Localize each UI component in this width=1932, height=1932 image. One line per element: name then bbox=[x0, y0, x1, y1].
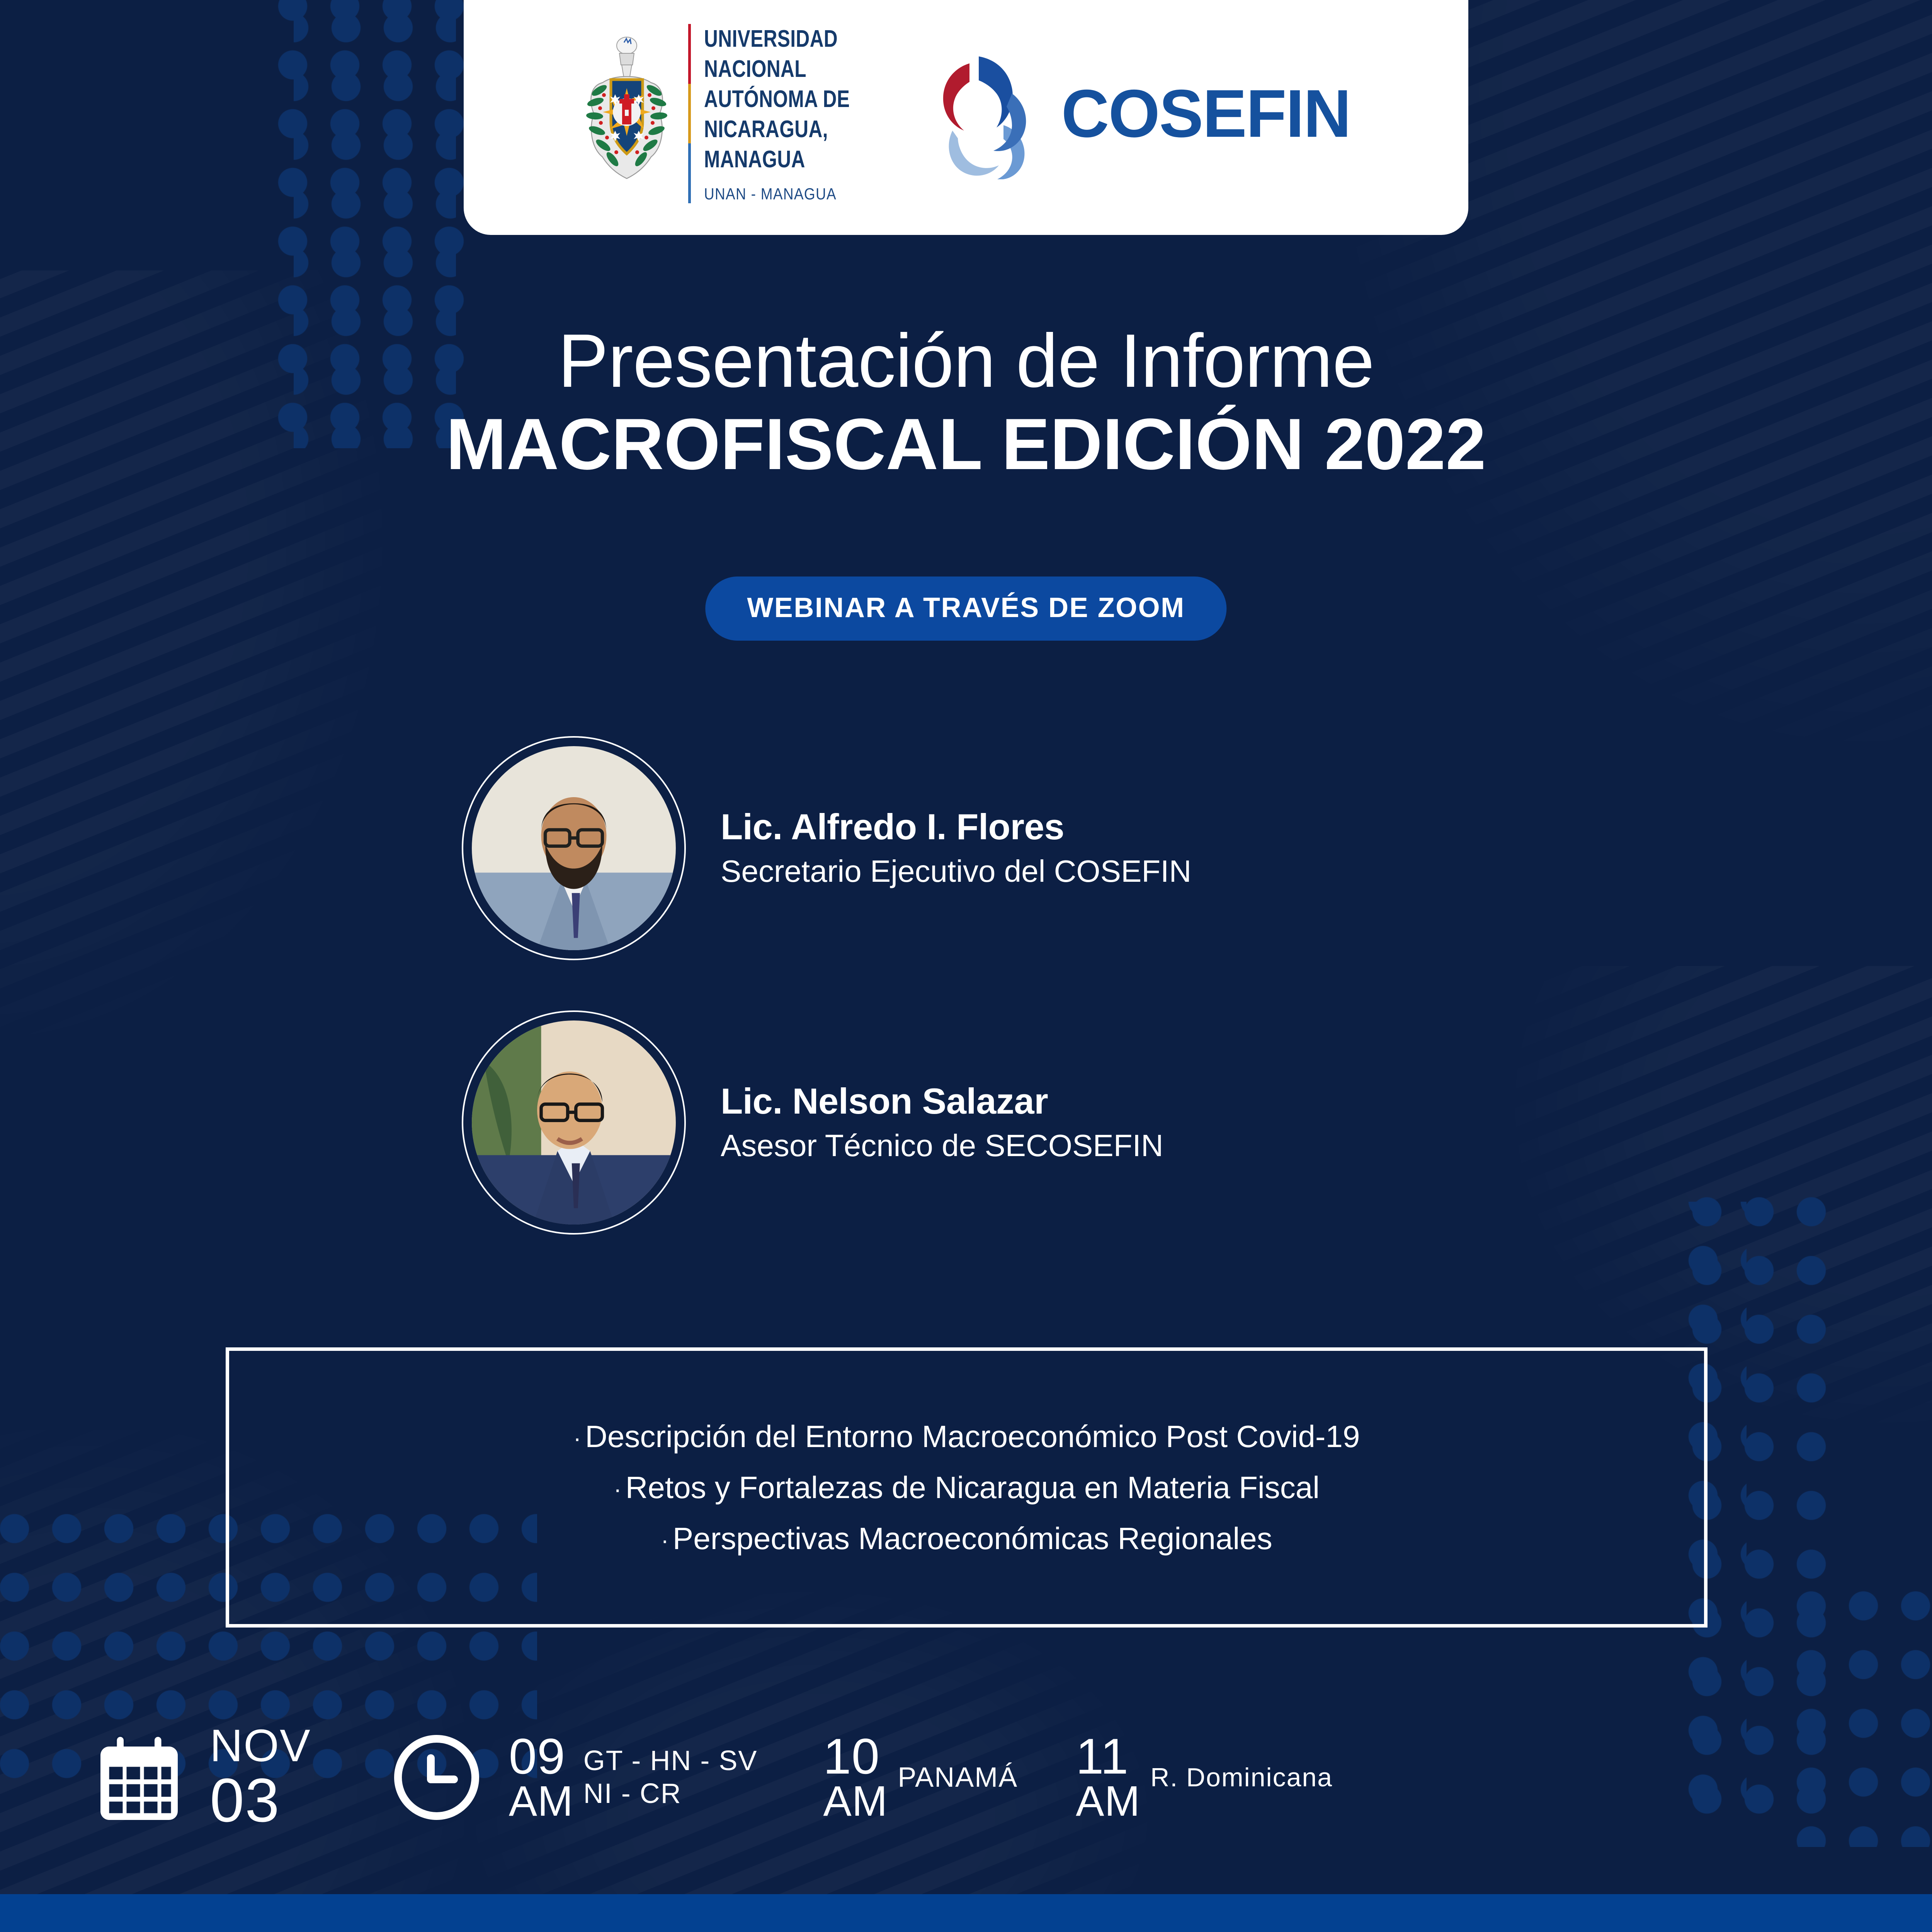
timezone-hour-1: 09 bbox=[509, 1732, 573, 1781]
bullet-icon: · bbox=[573, 1425, 581, 1452]
speaker-role: Asesor Técnico de SECOSEFIN bbox=[721, 1127, 1163, 1164]
bottom-accent-bar bbox=[0, 1894, 1932, 1932]
speaker-info: Lic. Alfredo I. Flores Secretario Ejecut… bbox=[721, 806, 1191, 889]
page-title: Presentación de Informe MACROFISCAL EDIC… bbox=[0, 321, 1932, 485]
bullet-icon: · bbox=[614, 1476, 622, 1503]
clock-icon bbox=[388, 1729, 485, 1826]
speaker-photo-nelson-salazar bbox=[472, 1020, 676, 1225]
speaker-photo-alfredo-flores bbox=[472, 746, 676, 950]
avatar bbox=[462, 736, 686, 960]
timezone-group-1: 09 AM GT - HN - SV NI - CR bbox=[509, 1732, 758, 1823]
list-item: Lic. Nelson Salazar Asesor Técnico de SE… bbox=[0, 1010, 1932, 1235]
event-datetime-bar: NOV 03 09 AM GT - HN - SV NI - CR 10 AM … bbox=[0, 1696, 1932, 1859]
avatar bbox=[462, 1010, 686, 1235]
title-line-2: MACROFISCAL EDICIÓN 2022 bbox=[0, 403, 1932, 485]
topic-text: Retos y Fortalezas de Nicaragua en Mater… bbox=[626, 1470, 1320, 1505]
speaker-name: Lic. Nelson Salazar bbox=[721, 1081, 1163, 1121]
bullet-icon: · bbox=[661, 1527, 669, 1554]
speakers-list: Lic. Alfredo I. Flores Secretario Ejecut… bbox=[0, 736, 1932, 1285]
webinar-badge[interactable]: WEBINAR A TRAVÉS DE ZOOM bbox=[705, 577, 1226, 641]
speaker-info: Lic. Nelson Salazar Asesor Técnico de SE… bbox=[721, 1081, 1163, 1164]
timezone-time-1: 09 AM bbox=[509, 1732, 573, 1823]
timezone-group-3: 11 AM R. Dominicana bbox=[1076, 1732, 1333, 1823]
timezone-hour-2: 10 bbox=[823, 1732, 888, 1781]
timezone-label-3: R. Dominicana bbox=[1150, 1762, 1333, 1793]
timezone-time-3: 11 AM bbox=[1076, 1732, 1140, 1823]
timezone-ampm-2: AM bbox=[823, 1780, 888, 1823]
timezone-label-1: GT - HN - SV NI - CR bbox=[583, 1745, 758, 1810]
speaker-name: Lic. Alfredo I. Flores bbox=[721, 806, 1191, 847]
event-date: NOV 03 bbox=[210, 1723, 311, 1832]
event-month: NOV bbox=[210, 1723, 311, 1769]
timezone-ampm-1: AM bbox=[509, 1780, 573, 1823]
timezone-time-2: 10 AM bbox=[823, 1732, 888, 1823]
title-line-1: Presentación de Informe bbox=[0, 321, 1932, 401]
list-item: Lic. Alfredo I. Flores Secretario Ejecut… bbox=[0, 736, 1932, 960]
timezone-group-2: 10 AM PANAMÁ bbox=[823, 1732, 1018, 1823]
topic-item-1: ·Descripción del Entorno Macroeconómico … bbox=[573, 1421, 1360, 1452]
topic-item-2: ·Retos y Fortalezas de Nicaragua en Mate… bbox=[614, 1472, 1320, 1503]
topic-text: Perspectivas Macroeconómicas Regionales bbox=[673, 1521, 1272, 1556]
timezone-label-2: PANAMÁ bbox=[898, 1761, 1018, 1794]
calendar-icon bbox=[91, 1729, 187, 1826]
topics-box: ·Descripción del Entorno Macroeconómico … bbox=[226, 1347, 1708, 1628]
topic-text: Descripción del Entorno Macroeconómico P… bbox=[585, 1419, 1360, 1454]
speaker-role: Secretario Ejecutivo del COSEFIN bbox=[721, 853, 1191, 890]
topic-item-3: ·Perspectivas Macroeconómicas Regionales bbox=[661, 1523, 1272, 1554]
timezone-hour-3: 11 bbox=[1076, 1732, 1140, 1781]
timezone-ampm-3: AM bbox=[1076, 1780, 1140, 1823]
event-day: 03 bbox=[210, 1769, 311, 1832]
poster-content: Presentación de Informe MACROFISCAL EDIC… bbox=[0, 0, 1932, 1932]
